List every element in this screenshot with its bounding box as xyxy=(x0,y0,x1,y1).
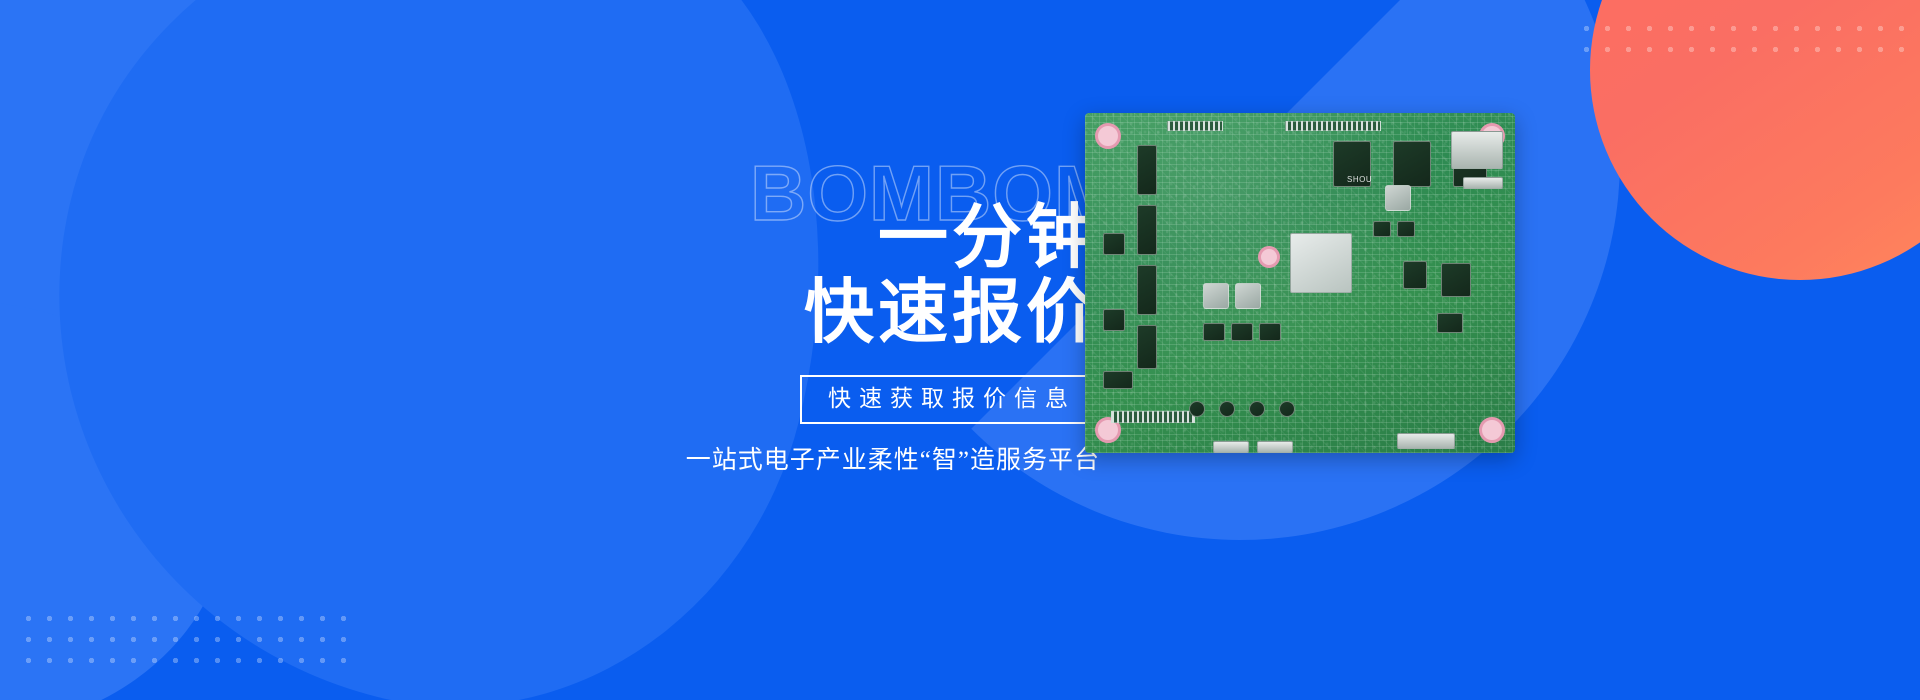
pcb-pin-header-1 xyxy=(1111,411,1195,423)
pcb-ic-right-3 xyxy=(1437,313,1463,333)
pcb-ic-right-1 xyxy=(1403,261,1427,289)
banner-text-block: BOMBOM 一分钟 快速报价 快速获取报价信息 一站式电子产业柔性“智”造服务… xyxy=(640,150,1100,476)
pcb-connector-bottom-left xyxy=(1213,441,1249,453)
pcb-ic-left-3 xyxy=(1137,265,1157,315)
pcb-inductor-2 xyxy=(1235,283,1261,309)
banner-content: BOMBOM 一分钟 快速报价 快速获取报价信息 一站式电子产业柔性“智”造服务… xyxy=(0,0,1920,700)
pcb-pin-header-3 xyxy=(1167,121,1223,131)
pcb-inductor-3 xyxy=(1385,185,1411,211)
banner-tagline: 一站式电子产业柔性“智”造服务平台 xyxy=(640,440,1100,476)
pcb-memory-chip-2 xyxy=(1393,141,1431,187)
get-quote-button[interactable]: 快速获取报价信息 xyxy=(800,375,1100,424)
headline-line-1: 一分钟 xyxy=(640,202,1100,273)
pcb-cap-round-2 xyxy=(1219,401,1235,417)
pcb-smd-2 xyxy=(1231,323,1253,341)
pcb-mounting-hole-tl xyxy=(1095,123,1121,149)
pcb-smd-1 xyxy=(1203,323,1225,341)
pcb-ic-left-4 xyxy=(1137,325,1157,369)
pcb-ic-right-2 xyxy=(1441,263,1471,297)
pcb-smd-5 xyxy=(1397,221,1415,237)
pcb-main-soc xyxy=(1290,233,1352,293)
pcb-connector-bottom-mid xyxy=(1257,441,1293,453)
pcb-substrate: SHOU xyxy=(1085,113,1515,453)
pcb-mounting-hole-br xyxy=(1479,417,1505,443)
pcb-board-image: SHOU xyxy=(1085,113,1515,453)
pcb-ic-left-1 xyxy=(1137,145,1157,195)
pcb-cap-round-4 xyxy=(1279,401,1295,417)
pcb-cap-round-1 xyxy=(1189,401,1205,417)
pcb-smd-4 xyxy=(1373,221,1391,237)
pcb-pin-header-2 xyxy=(1285,121,1381,131)
pcb-ic-small-2 xyxy=(1103,309,1125,331)
pcb-inductor-1 xyxy=(1203,283,1229,309)
pcb-smd-3 xyxy=(1259,323,1281,341)
pcb-cap-round-3 xyxy=(1249,401,1265,417)
pcb-pad-center xyxy=(1258,246,1280,268)
pcb-connector-right xyxy=(1463,177,1503,189)
pcb-sd-card-slot xyxy=(1451,131,1503,169)
pcb-silkscreen-label: SHOU xyxy=(1347,175,1372,184)
pcb-connector-bottom-right xyxy=(1397,433,1455,449)
pcb-ic-small-1 xyxy=(1103,233,1125,255)
pcb-ic-small-3 xyxy=(1103,371,1133,389)
pcb-ic-left-2 xyxy=(1137,205,1157,255)
promo-banner: BOMBOM 一分钟 快速报价 快速获取报价信息 一站式电子产业柔性“智”造服务… xyxy=(0,0,1920,700)
headline-line-2: 快速报价 xyxy=(640,277,1100,348)
